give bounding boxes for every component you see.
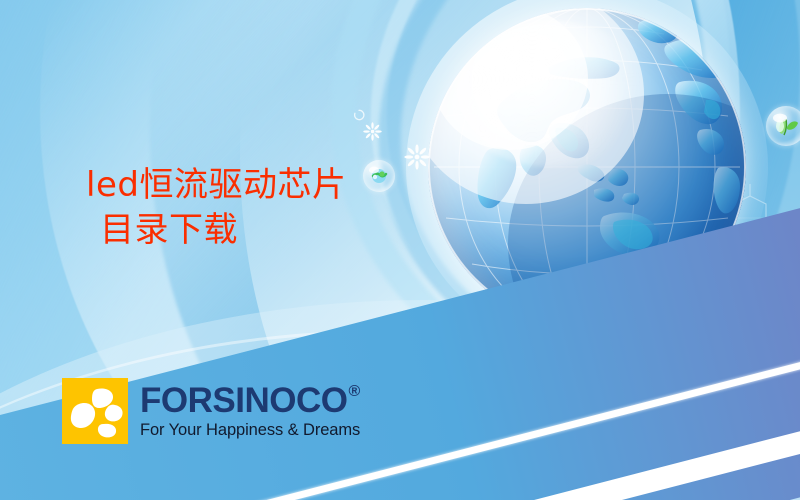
promo-banner: led恒流驱动芯片 目录下载 FORSINOCO ® For Your Happ…	[0, 0, 800, 500]
page-title: led恒流驱动芯片 目录下载	[86, 163, 506, 253]
headline-line-2: 目录下载	[100, 208, 506, 253]
registered-trademark-icon: ®	[348, 384, 359, 400]
four-petal-flower-icon	[62, 378, 128, 444]
logo-text-block: FORSINOCO ® For Your Happiness & Dreams	[140, 383, 360, 439]
headline-line-1: led恒流驱动芯片	[86, 163, 506, 208]
logo-name-text: FORSINOCO	[140, 383, 347, 418]
logo-wordmark: FORSINOCO ®	[140, 383, 360, 418]
logo-tagline: For Your Happiness & Dreams	[140, 422, 360, 439]
brand-logo[interactable]: FORSINOCO ® For Your Happiness & Dreams	[62, 378, 360, 444]
